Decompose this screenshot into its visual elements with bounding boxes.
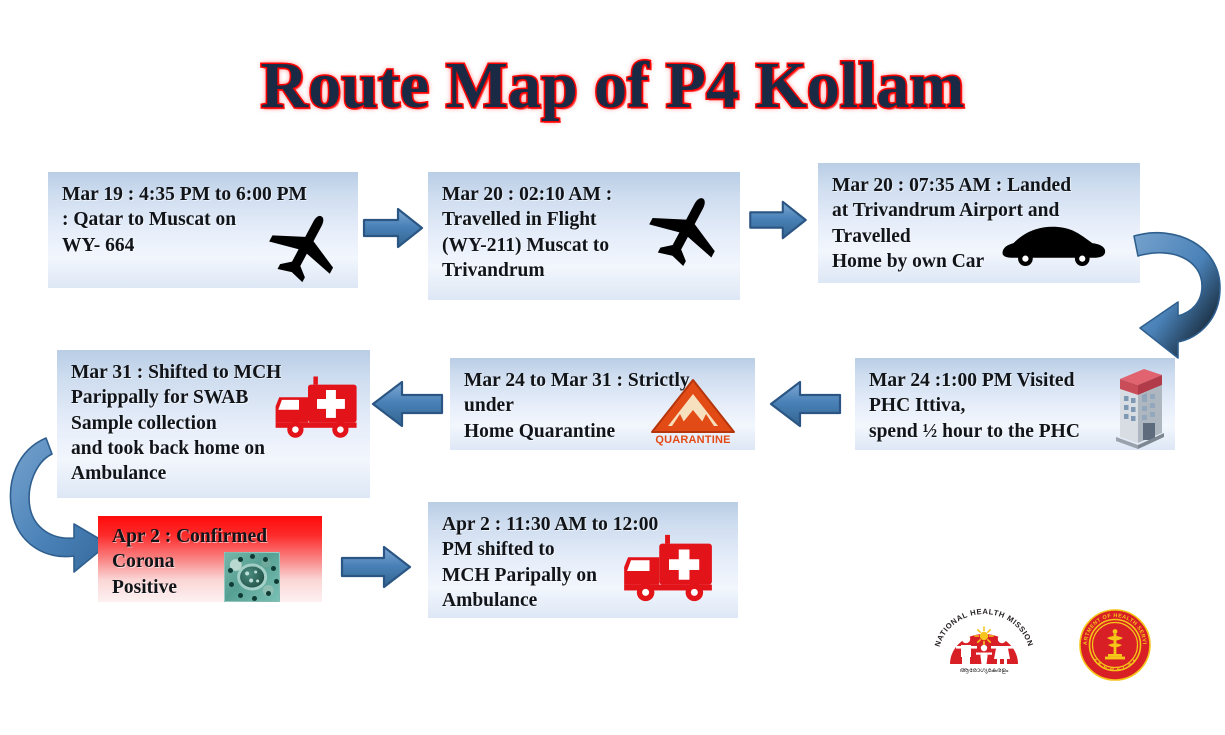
step-3-line-1: Mar 20 : 07:35 AM : Landed (832, 173, 1128, 198)
ambulance-icon (620, 530, 718, 608)
ambulance-icon (272, 372, 362, 444)
step-6-line-5: Ambulance (71, 461, 358, 486)
arrow-5-6 (370, 378, 444, 430)
virus-spikes (225, 553, 279, 601)
quarantine-label: QUARANTINE (655, 434, 730, 446)
arrow-3-4 (1128, 216, 1225, 362)
step-1-line-1: Mar 19 : 4:35 PM to 6:00 PM (62, 182, 346, 207)
page-title: Route Map of P4 Kollam (0, 48, 1225, 124)
nhm-sub-text: ആരോഗ്യകേരളം (960, 667, 1009, 674)
national-health-mission-logo: NATIONAL HEALTH MISSION ആരോഗ്യകേരളം (930, 606, 1038, 674)
hospital-building-icon (1098, 363, 1168, 451)
arrow-1-2 (362, 205, 424, 251)
route-map-canvas: Route Map of P4 Kollam Mar 19 : 4:35 PM … (0, 0, 1225, 735)
quarantine-sign-icon: QUARANTINE (648, 376, 738, 446)
airplane-icon (260, 208, 352, 286)
coronavirus-icon (224, 552, 280, 602)
department-of-health-services-kerala-logo: DEPARTMENT OF HEALTH SERVICES • K E R A … (1078, 608, 1152, 682)
step-7-line-1: Apr 2 : Confirmed (112, 524, 310, 549)
arrow-2-3 (748, 198, 808, 242)
step-7-line-3: Positive (112, 575, 310, 600)
arrow-4-5 (768, 378, 842, 430)
arrow-6-7 (2, 432, 112, 582)
arrow-7-8 (340, 543, 412, 591)
car-icon (996, 222, 1108, 266)
step-7-line-2: Corona (112, 549, 310, 574)
step-card-7: Apr 2 : Confirmed Corona Positive (98, 516, 322, 602)
airplane-icon (640, 190, 734, 270)
step-3-line-2: at Trivandrum Airport and (832, 198, 1128, 223)
